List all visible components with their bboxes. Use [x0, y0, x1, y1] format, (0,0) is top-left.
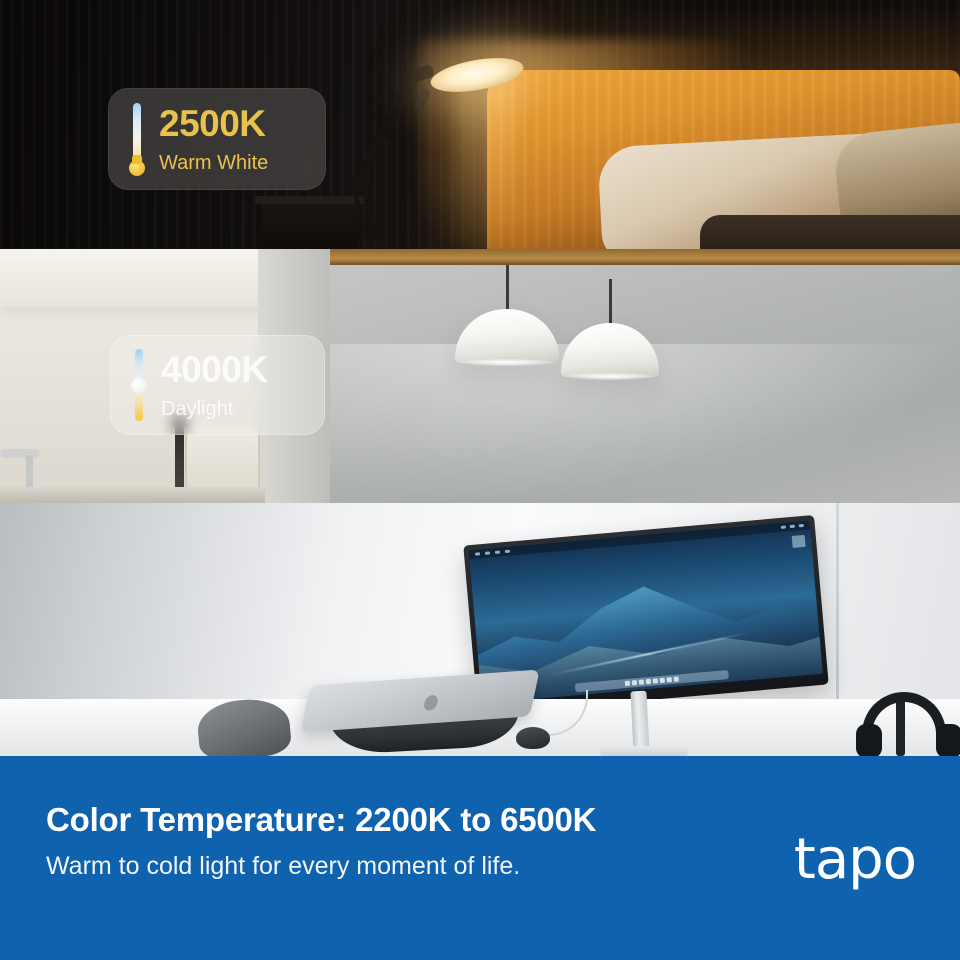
marketing-graphic: 2500K Warm White [0, 0, 960, 960]
menu-item [495, 550, 500, 553]
tapo-logo: tapo [794, 832, 916, 888]
panel-warm-white: 2500K Warm White [0, 0, 960, 249]
bedside-table-top [255, 196, 365, 204]
computer-mouse [516, 727, 550, 749]
badge-text: 2500K Warm White [159, 105, 268, 173]
dock-icon [673, 676, 678, 681]
status-icon [799, 524, 804, 527]
pendant-cord [609, 279, 612, 327]
badge-daylight: 4000K Daylight [110, 335, 325, 435]
pendant-dome [455, 309, 559, 363]
menu-item [485, 551, 490, 554]
monitor-base [600, 746, 688, 756]
lamp-light-cone [455, 76, 515, 246]
dock-icon [639, 679, 644, 684]
thermometer-knob [131, 378, 147, 394]
dock-icon [646, 679, 651, 684]
banner-title: Color Temperature: 2200K to 6500K [46, 801, 596, 839]
badge-warm-white: 2500K Warm White [108, 88, 326, 190]
badge-kelvin-label: Warm White [159, 153, 268, 173]
pendant-glow [461, 359, 553, 366]
monitor-neck [630, 691, 649, 754]
bedside-table-body [262, 204, 358, 249]
headphone-earcup-right [936, 724, 960, 758]
badge-kelvin-label: Daylight [161, 399, 268, 419]
headphone-earcup-left [856, 724, 882, 758]
menu-bar-status-icons [781, 524, 804, 529]
dock-icon [667, 677, 672, 682]
pendant-lamp-left [455, 265, 559, 375]
badge-kelvin-value: 2500K [159, 105, 268, 142]
pendant-glow [567, 373, 653, 380]
banner-subtitle: Warm to cold light for every moment of l… [46, 852, 520, 881]
counter-top [0, 487, 265, 503]
dock-icon [625, 681, 630, 686]
pendant-dome [561, 323, 659, 377]
thermometer-slider-icon [130, 349, 147, 421]
pendant-lamp-right [561, 279, 659, 389]
badge-kelvin-value: 4000K [161, 351, 268, 388]
apple-logo-icon [422, 695, 438, 711]
dock-icon [653, 678, 658, 683]
thermometer-knob [129, 160, 145, 176]
badge-text: 4000K Daylight [161, 351, 268, 419]
duvet [700, 215, 960, 249]
menu-item [475, 552, 480, 555]
status-icon [781, 525, 786, 528]
dock-icon [632, 680, 637, 685]
headphone-stand [896, 700, 905, 756]
desktop-icon [792, 535, 806, 548]
pendant-cord [506, 265, 509, 313]
dock-icon [660, 678, 665, 683]
menu-item [505, 550, 510, 553]
status-icon [790, 525, 795, 528]
bottom-banner: Color Temperature: 2200K to 6500K Warm t… [0, 756, 960, 960]
thermometer-slider-icon [128, 103, 145, 175]
soffit [0, 249, 280, 307]
faucet [0, 449, 40, 458]
